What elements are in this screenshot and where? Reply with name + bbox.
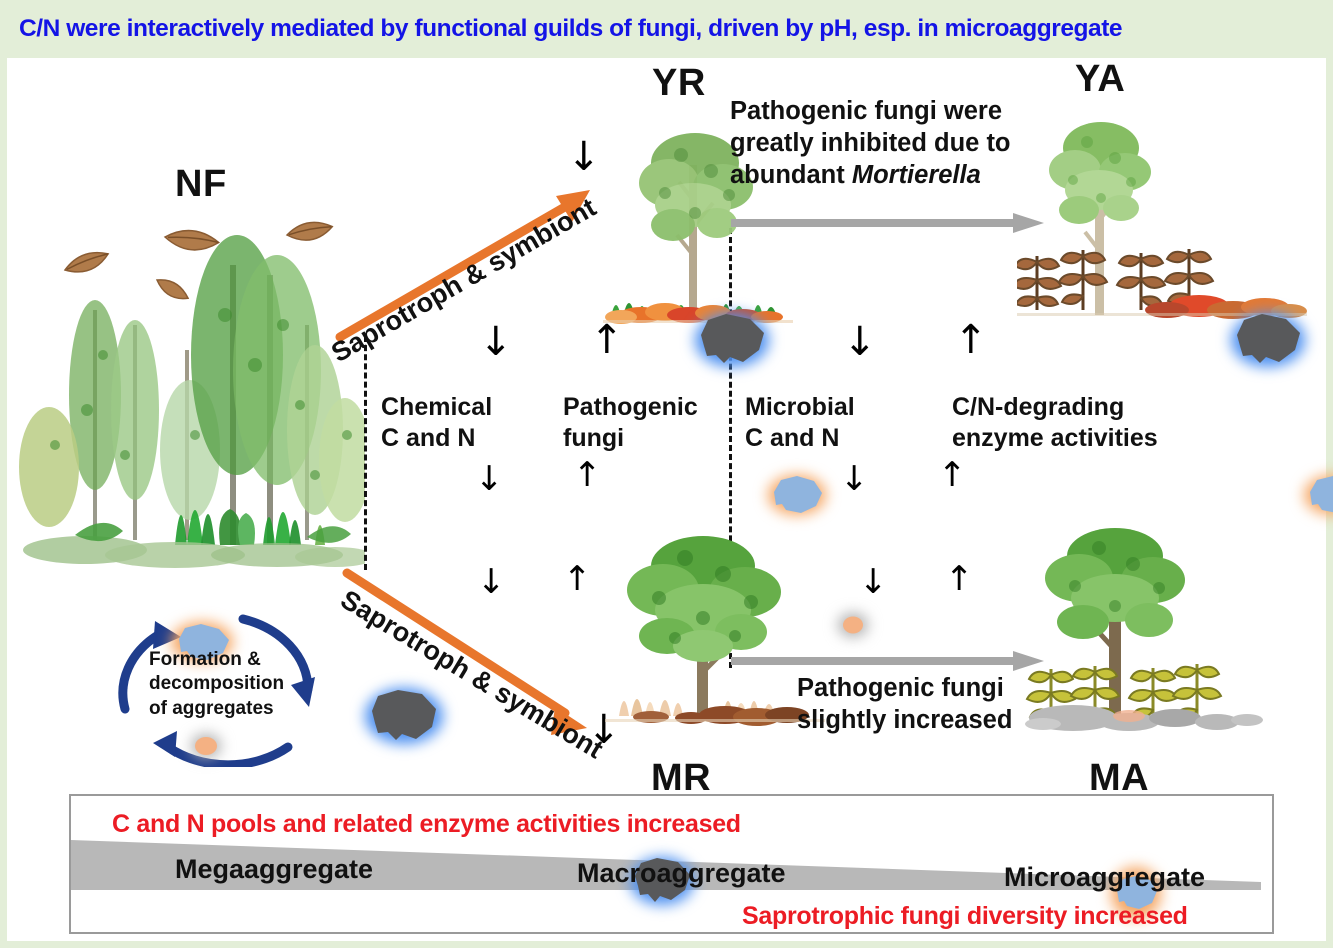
graphical-abstract: C/N were interactively mediated by funct…	[0, 0, 1333, 948]
bottom-right-annotation: Pathogenic fungi slightly increased	[797, 672, 1047, 736]
left-microaggregate-icon	[839, 614, 867, 636]
falling-leaves-group	[47, 215, 347, 335]
pathogenic-fungi-line1: Pathogenic	[563, 392, 723, 423]
mr-illustration	[605, 518, 825, 738]
right-macro-down-arrow: ↓	[840, 462, 869, 496]
left-macro-up-arrow: ↑	[573, 458, 602, 492]
cycle-caption: Formation & decomposition of aggregates	[149, 648, 289, 721]
chemical-cn-label: Chemical C and N	[381, 392, 531, 454]
chemical-cn-line2: C and N	[381, 423, 531, 454]
cycle-caption-line3: of aggregates	[149, 697, 289, 721]
left-mega-up-arrow: ↑	[590, 320, 624, 360]
left-macroaggregate-icon	[768, 474, 826, 516]
pathogenic-fungi-label: Pathogenic fungi	[563, 392, 723, 454]
top-right-line1: Pathogenic fungi were	[730, 95, 1040, 127]
legend-microaggregate-label: Microaggregate	[1004, 862, 1205, 893]
right-mega-down-arrow: ↓	[843, 322, 877, 362]
yr-decrease-arrow: ↓	[567, 137, 601, 177]
top-right-line2: greatly inhibited due to	[730, 127, 1040, 159]
left-macro-down-arrow: ↓	[475, 462, 504, 496]
right-megaaggregate-icon	[1232, 312, 1304, 368]
ma-illustration	[1025, 510, 1285, 750]
legend-top-text: C and N pools and related enzyme activit…	[112, 810, 741, 839]
ya-illustration	[1017, 100, 1307, 325]
bottom-right-line1: Pathogenic fungi	[797, 672, 1047, 704]
top-right-line3: abundant Mortierella	[730, 159, 1040, 191]
mortierella-genus-name: Mortierella	[852, 161, 981, 189]
node-label-ya: YA	[1075, 58, 1125, 101]
node-label-nf: NF	[175, 163, 227, 206]
cn-enzyme-line1: C/N-degrading	[952, 392, 1202, 423]
left-micro-down-arrow: ↓	[477, 565, 506, 599]
pathogenic-fungi-line2: fungi	[563, 423, 723, 454]
bottom-right-line2: slightly increased	[797, 704, 1047, 736]
right-macroaggregate-icon	[1304, 474, 1333, 516]
cycle-microaggregate-icon	[191, 734, 221, 758]
right-micro-down-arrow: ↓	[859, 565, 888, 599]
ya-gray-arrow	[729, 212, 1049, 236]
right-mega-up-arrow: ↑	[954, 320, 988, 360]
left-megaaggregate-icon	[696, 312, 768, 368]
dashed-line-left	[364, 336, 367, 570]
legend-macroaggregate-label: Macroaggregate	[577, 858, 786, 889]
cn-enzyme-label: C/N-degrading enzyme activities	[952, 392, 1202, 454]
top-right-annotation: Pathogenic fungi were greatly inhibited …	[730, 95, 1040, 191]
cn-enzyme-line2: enzyme activities	[952, 423, 1202, 454]
microbial-cn-line2: C and N	[745, 423, 895, 454]
legend-megaaggregate-label: Megaaggregate	[175, 854, 373, 885]
header-banner: C/N were interactively mediated by funct…	[7, 0, 1333, 58]
top-right-line3-prefix: abundant	[730, 161, 852, 189]
cycle-caption-line2: decomposition	[149, 672, 289, 696]
right-macro-up-arrow: ↑	[938, 458, 967, 492]
legend-bottom-text: Saprotrophic fungi diversity increased	[742, 902, 1188, 931]
page-title: C/N were interactively mediated by funct…	[7, 15, 1122, 43]
node-label-yr: YR	[652, 62, 706, 105]
left-mega-down-arrow: ↓	[479, 322, 513, 362]
left-micro-up-arrow: ↑	[563, 562, 592, 596]
chemical-cn-line1: Chemical	[381, 392, 531, 423]
right-micro-up-arrow: ↑	[945, 562, 974, 596]
ma-gray-arrow	[729, 650, 1049, 674]
cycle-caption-line1: Formation &	[149, 648, 289, 672]
microbial-cn-line1: Microbial	[745, 392, 895, 423]
microbial-cn-label: Microbial C and N	[745, 392, 895, 454]
